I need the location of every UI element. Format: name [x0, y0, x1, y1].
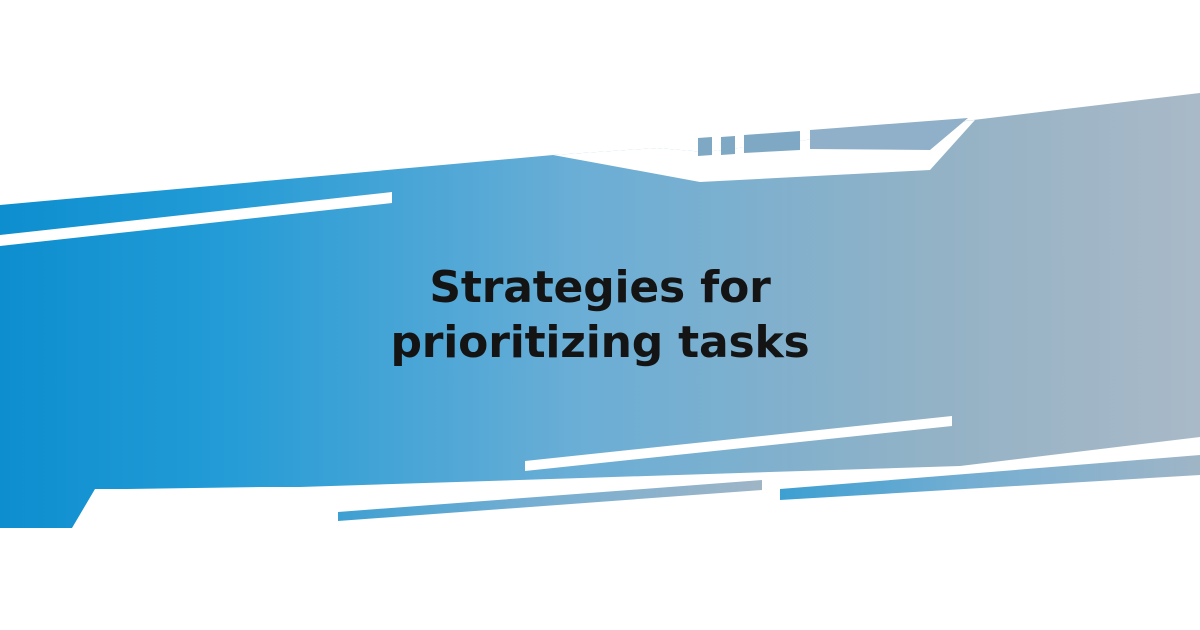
banner-background-art	[0, 0, 1200, 630]
accent-bar-lower-left	[338, 480, 762, 521]
banner-card: Strategies for prioritizing tasks	[0, 0, 1200, 630]
